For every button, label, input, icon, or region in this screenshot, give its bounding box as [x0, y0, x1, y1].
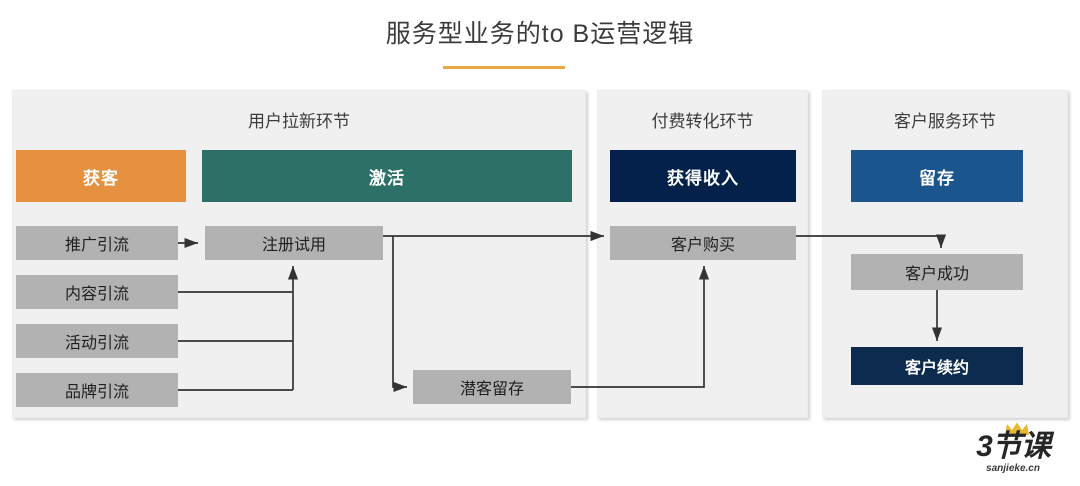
panel-title-user-acquisition: 用户拉新环节: [13, 107, 585, 132]
node-lead-retention[interactable]: 潜客留存: [413, 370, 571, 404]
node-customer-renewal[interactable]: 客户续约: [851, 347, 1023, 385]
stage-header-acquisition: 获客: [16, 150, 186, 202]
page-title: 服务型业务的to B运营逻辑: [0, 14, 1080, 50]
watermark-site: sanjieke.cn: [954, 463, 1072, 474]
slide-canvas: 服务型业务的to B运营逻辑 用户拉新环节 获客 激活 付费转化环节 获得收入 …: [0, 0, 1080, 486]
stage-header-activation: 激活: [202, 150, 572, 202]
stage-header-retention: 留存: [851, 150, 1023, 202]
panel-title-customer-service: 客户服务环节: [823, 107, 1067, 132]
node-promotion-traffic[interactable]: 推广引流: [16, 226, 178, 260]
panel-title-paid-conversion: 付费转化环节: [598, 107, 807, 132]
node-brand-traffic[interactable]: 品牌引流: [16, 373, 178, 407]
node-event-traffic[interactable]: 活动引流: [16, 324, 178, 358]
node-customer-purchase[interactable]: 客户购买: [610, 226, 796, 260]
watermark-logo: 3节课 sanjieke.cn: [954, 422, 1072, 482]
title-underline-rule: [443, 66, 565, 69]
node-customer-success[interactable]: 客户成功: [851, 254, 1023, 290]
stage-header-revenue: 获得收入: [610, 150, 796, 202]
node-content-traffic[interactable]: 内容引流: [16, 275, 178, 309]
node-register-trial[interactable]: 注册试用: [205, 226, 383, 260]
watermark-brand-name: 3节课: [954, 432, 1072, 462]
